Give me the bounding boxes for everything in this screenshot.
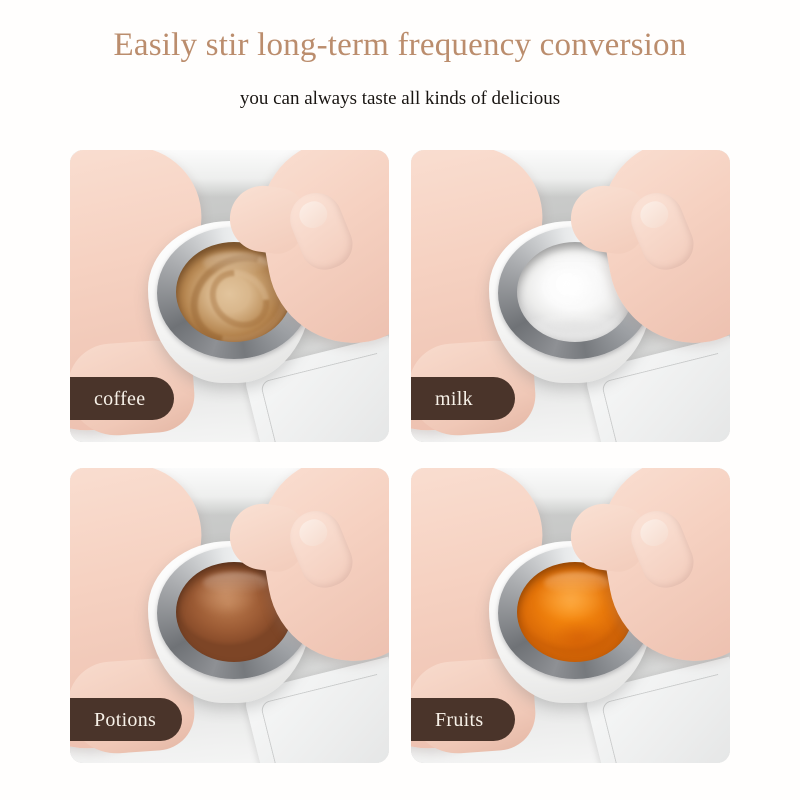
- page-header: Easily stir long-term frequency conversi…: [0, 0, 800, 110]
- gallery-card-milk[interactable]: milk: [411, 150, 730, 442]
- liquid-highlight: [203, 252, 268, 274]
- gallery-card-fruits[interactable]: Fruits: [411, 468, 730, 763]
- beverage-gallery: coffee: [70, 150, 730, 765]
- gallery-card-coffee[interactable]: coffee: [70, 150, 389, 442]
- card-label-milk: milk: [411, 377, 515, 420]
- card-label-fruits: Fruits: [411, 698, 515, 741]
- liquid-highlight: [544, 252, 609, 274]
- card-label-potions: Potions: [70, 698, 182, 741]
- product-feature-page: Easily stir long-term frequency conversi…: [0, 0, 800, 800]
- liquid-highlight: [544, 572, 609, 594]
- gallery-card-potions[interactable]: Potions: [70, 468, 389, 763]
- liquid-highlight: [203, 572, 268, 594]
- page-subtitle: you can always taste all kinds of delici…: [0, 88, 800, 111]
- page-title: Easily stir long-term frequency conversi…: [0, 26, 800, 66]
- card-label-coffee: coffee: [70, 377, 174, 420]
